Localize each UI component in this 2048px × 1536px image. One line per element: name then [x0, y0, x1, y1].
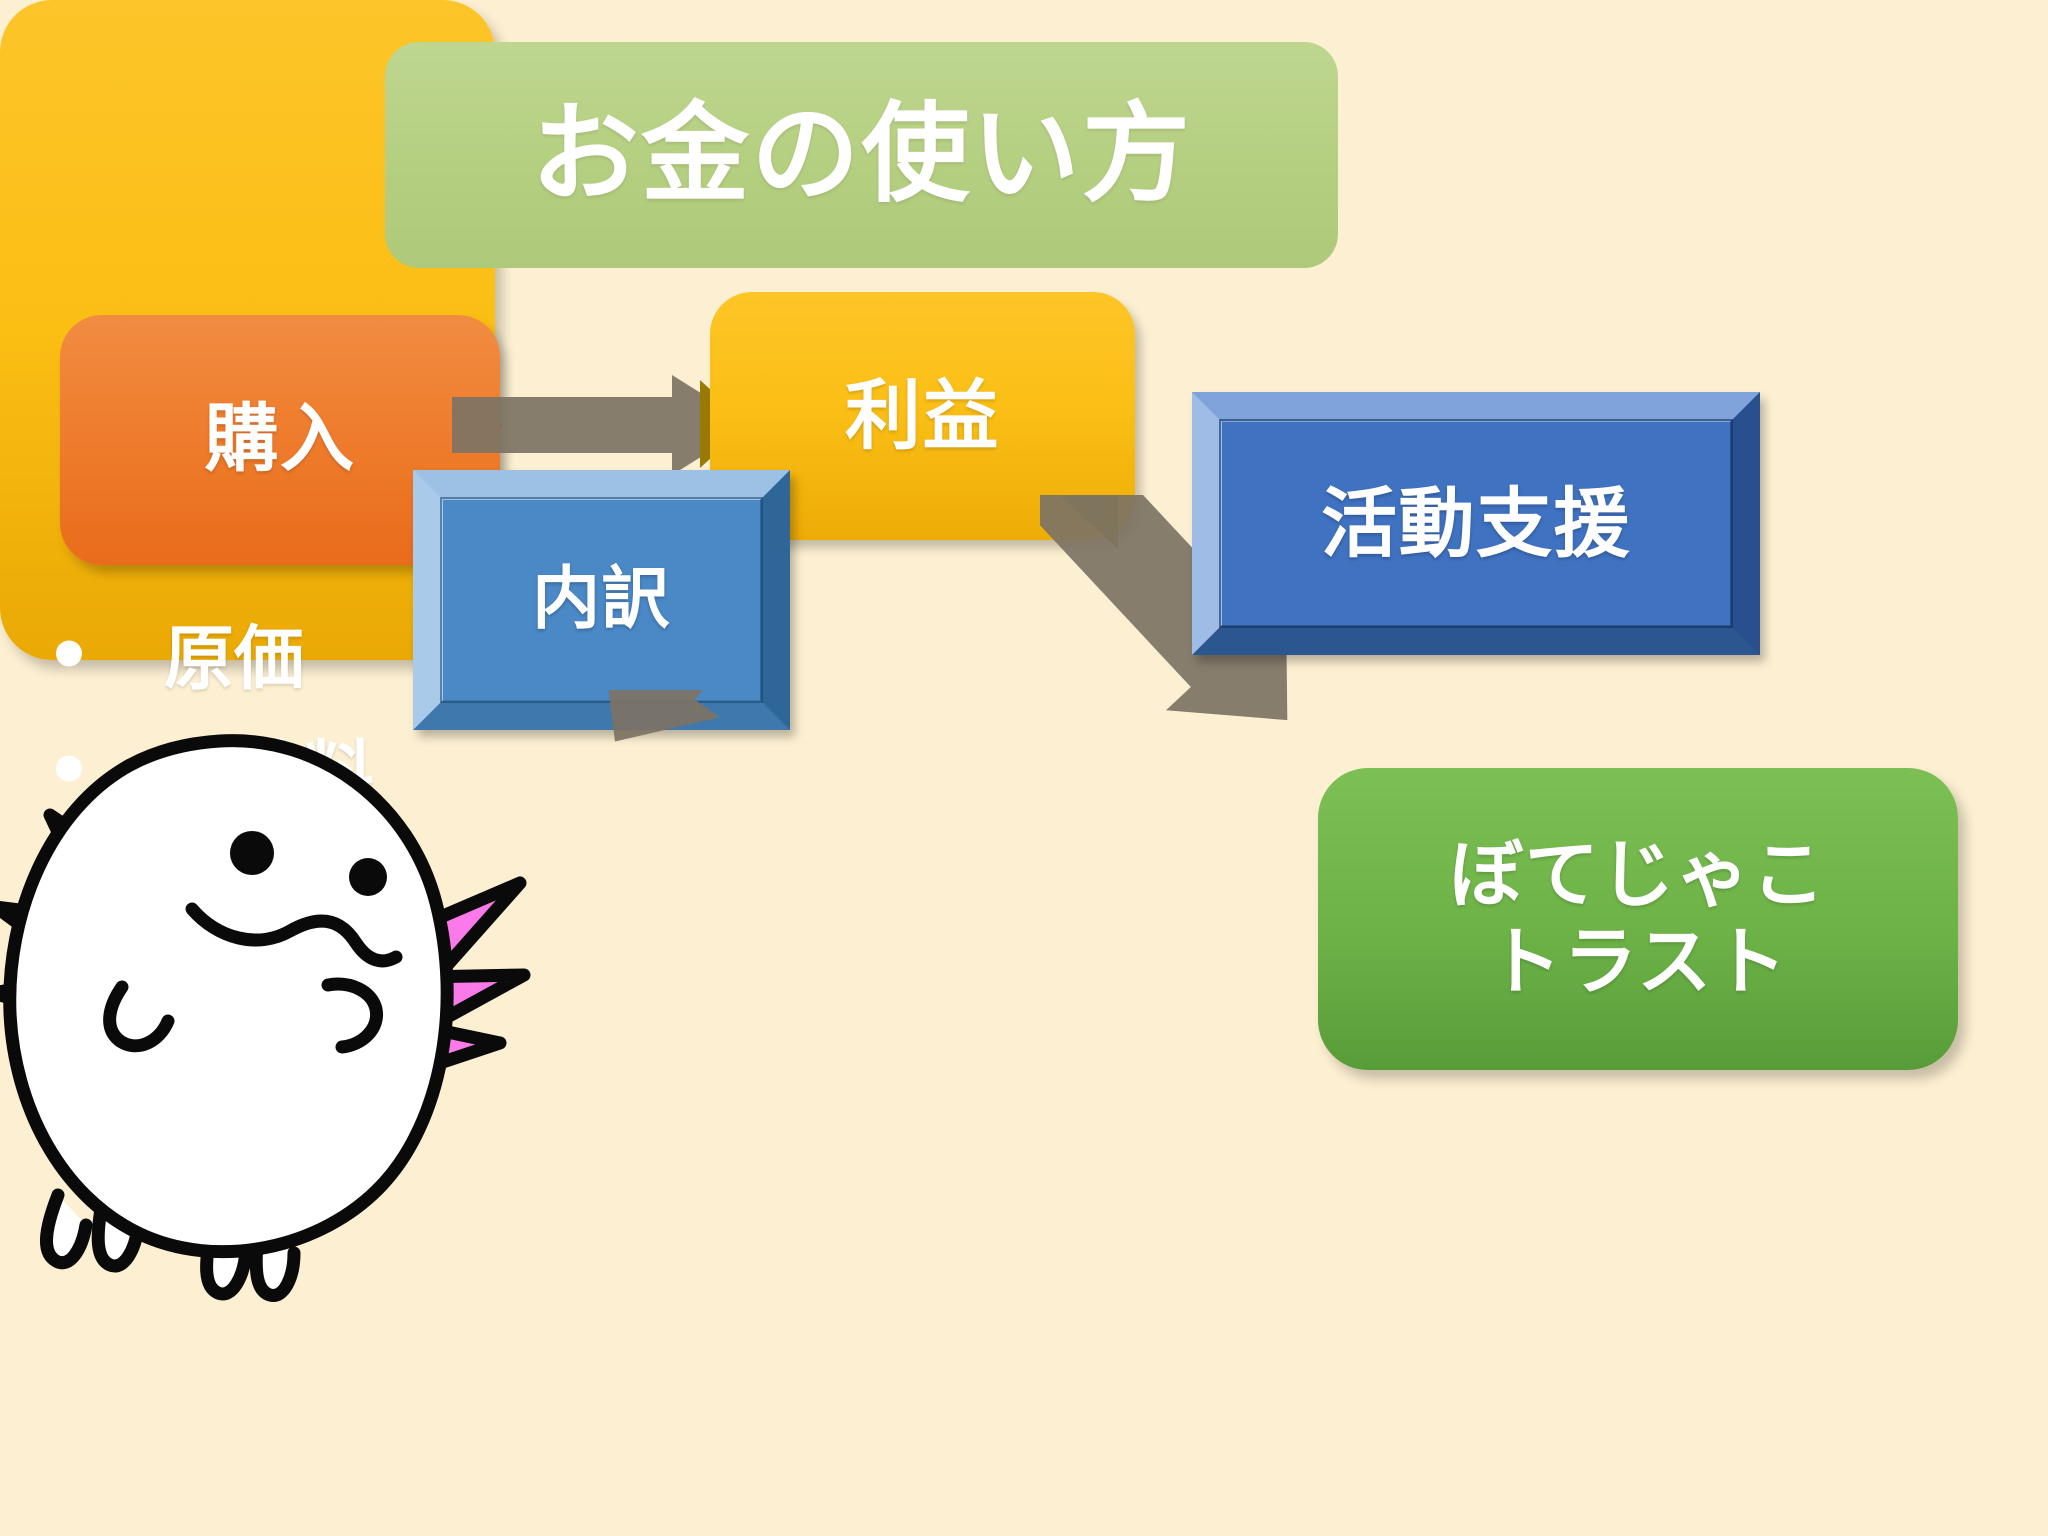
botejako-mascot-icon: [0, 725, 550, 1325]
mascot-eye-right: [349, 858, 387, 896]
node-botejako-trust[interactable]: ぼてじゃこ トラスト: [1318, 768, 1958, 1070]
slide-canvas: お金の使い方 購入 利益 内訳 活動支援 原価 手数料: [0, 0, 2048, 1536]
trust-label-line1: ぼてじゃこ: [1449, 832, 1826, 919]
slide-title: お金の使い方: [385, 42, 1338, 268]
list-item-label: 原価: [164, 603, 304, 704]
mascot-eye-left: [230, 831, 274, 875]
trust-label-line2: トラスト: [1488, 919, 1788, 1006]
bullet-icon: [56, 640, 82, 666]
list-item[interactable]: 原価: [56, 603, 2048, 704]
